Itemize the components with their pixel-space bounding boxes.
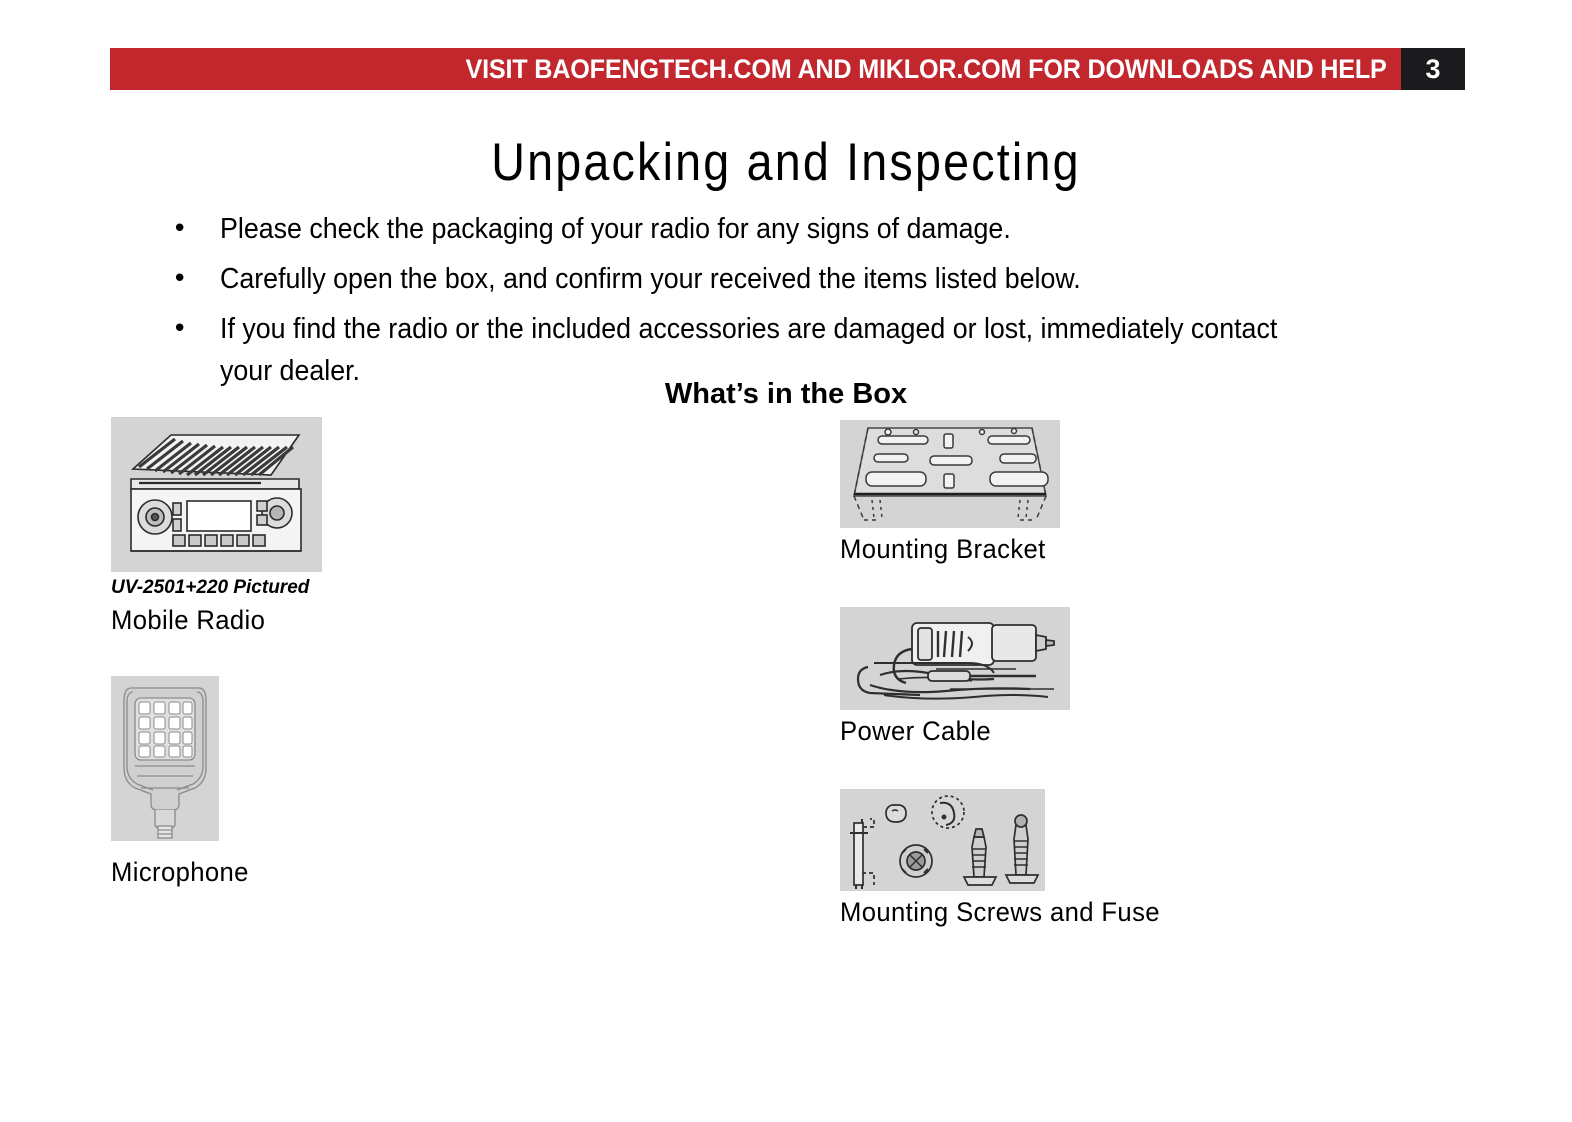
figure-mounting-bracket: Mounting Bracket xyxy=(840,420,1060,565)
bullet-icon: • xyxy=(160,208,220,250)
list-item: • Carefully open the box, and confirm yo… xyxy=(160,258,1405,300)
header-red-block: VISIT BAOFENGTECH.COM AND MIKLOR.COM FOR… xyxy=(110,48,1401,90)
mobile-radio-illustration-icon xyxy=(111,417,322,572)
handheld-microphone-illustration-icon xyxy=(111,676,219,841)
bullet-icon: • xyxy=(160,258,220,300)
microphone-image xyxy=(111,676,219,841)
page-header-banner: VISIT BAOFENGTECH.COM AND MIKLOR.COM FOR… xyxy=(110,48,1465,90)
page-title: Unpacking and Inspecting xyxy=(94,132,1477,193)
mobile-radio-subcaption: UV-2501+220 Pictured xyxy=(111,577,322,599)
power-cable-caption: Power Cable xyxy=(840,716,1059,747)
screws-and-fuse-caption: Mounting Screws and Fuse xyxy=(840,897,1160,928)
figure-power-cable: Power Cable xyxy=(840,607,1070,747)
bullet-icon: • xyxy=(160,308,220,350)
screws-and-fuse-illustration-icon xyxy=(840,789,1045,891)
figure-microphone: Microphone xyxy=(111,676,256,888)
header-banner-text: VISIT BAOFENGTECH.COM AND MIKLOR.COM FOR… xyxy=(466,54,1387,85)
list-item-text: Carefully open the box, and confirm your… xyxy=(220,258,1334,300)
mounting-bracket-image xyxy=(840,420,1060,528)
mobile-radio-caption: Mobile Radio xyxy=(111,605,311,636)
figure-screws-and-fuse: Mounting Screws and Fuse xyxy=(840,789,1177,928)
power-cable-image xyxy=(840,607,1070,710)
microphone-caption: Microphone xyxy=(111,857,249,888)
page-number-badge: 3 xyxy=(1401,48,1465,90)
whats-in-the-box-heading: What’s in the Box xyxy=(0,378,1572,411)
instruction-list: • Please check the packaging of your rad… xyxy=(160,208,1405,400)
screws-and-fuse-image xyxy=(840,789,1045,891)
power-cable-illustration-icon xyxy=(840,607,1070,710)
list-item: • Please check the packaging of your rad… xyxy=(160,208,1405,250)
mounting-bracket-caption: Mounting Bracket xyxy=(840,534,1049,565)
mounting-bracket-illustration-icon xyxy=(840,420,1060,528)
list-item-text: Please check the packaging of your radio… xyxy=(220,208,1334,250)
figure-mobile-radio: UV-2501+220 Pictured Mobile Radio xyxy=(111,417,322,636)
mobile-radio-image xyxy=(111,417,322,572)
